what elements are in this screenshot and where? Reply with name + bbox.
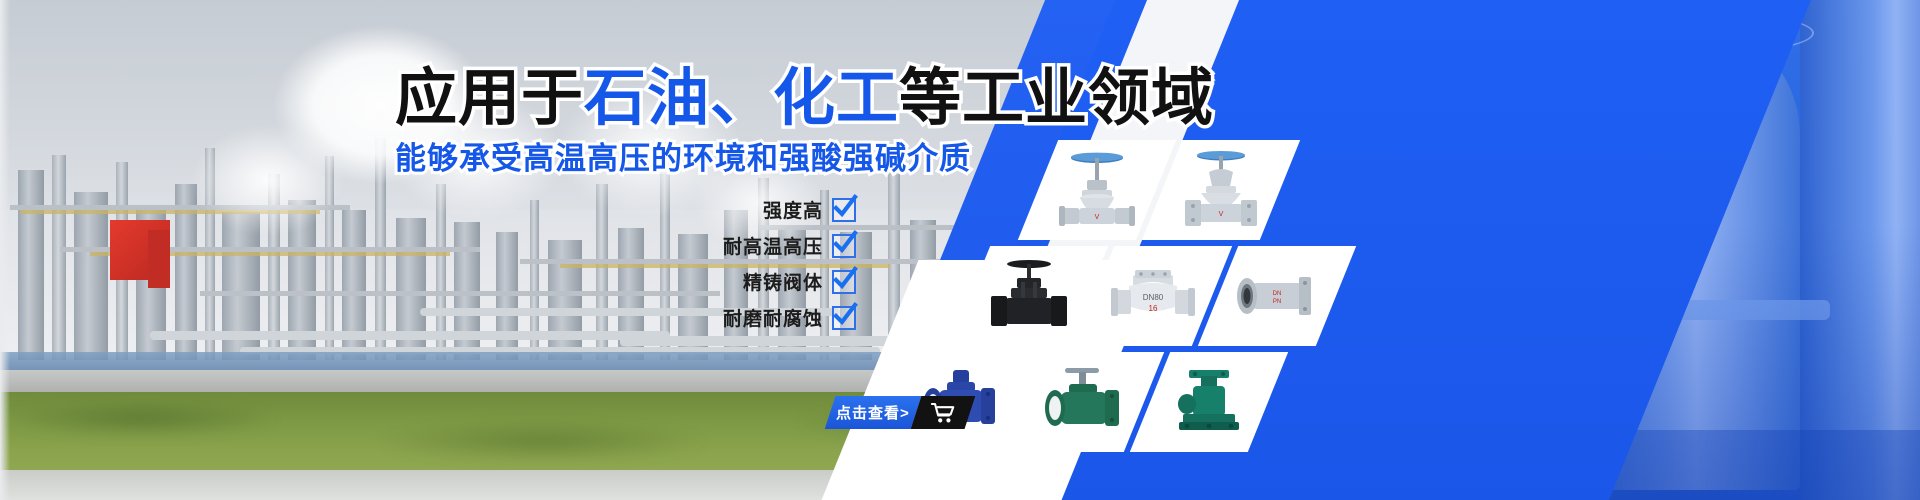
page-subtitle: 能够承受高温高压的环境和强酸强碱介质 bbox=[395, 143, 971, 174]
copy-block: 应用于石油、化工等工业领域 能够承受高温高压的环境和强酸强碱介质 强度高 耐高温… bbox=[0, 0, 1180, 500]
feature-label: 精铸阀体 bbox=[743, 268, 823, 295]
cta-cart-area[interactable] bbox=[911, 396, 976, 429]
promo-banner: V V bbox=[0, 0, 1920, 500]
page-title: 应用于石油、化工等工业领域 bbox=[395, 68, 1214, 130]
feature-label: 强度高 bbox=[763, 196, 823, 223]
svg-text:DN: DN bbox=[1273, 291, 1282, 297]
check-icon bbox=[832, 306, 856, 330]
check-icon bbox=[832, 270, 856, 294]
globe-valve-flanged-icon: V bbox=[1173, 146, 1269, 234]
shopping-cart-icon bbox=[931, 402, 955, 424]
check-icon bbox=[832, 198, 856, 222]
headline-part-1: 应用于 bbox=[395, 64, 584, 133]
lined-pipe-spool-icon: DN PN bbox=[1227, 261, 1327, 331]
check-icon bbox=[832, 234, 856, 258]
svg-text:V: V bbox=[1219, 211, 1224, 218]
cta-label-area[interactable]: 点击查看> bbox=[825, 396, 922, 429]
view-details-button[interactable]: 点击查看> bbox=[825, 396, 976, 429]
list-item: 强度高 bbox=[763, 196, 856, 223]
feature-label: 耐磨耐腐蚀 bbox=[723, 304, 823, 331]
headline-highlight: 石油、化工 bbox=[584, 64, 899, 133]
list-item: 耐高温高压 bbox=[723, 232, 856, 259]
svg-text:PN: PN bbox=[1273, 299, 1281, 305]
feature-list: 强度高 耐高温高压 精铸阀体 耐磨耐腐蚀 bbox=[676, 196, 856, 331]
headline-part-2: 等工业领域 bbox=[899, 64, 1214, 133]
list-item: 精铸阀体 bbox=[743, 268, 856, 295]
cta-label: 点击查看> bbox=[836, 402, 910, 423]
feature-label: 耐高温高压 bbox=[723, 232, 823, 259]
list-item: 耐磨耐腐蚀 bbox=[723, 304, 856, 331]
